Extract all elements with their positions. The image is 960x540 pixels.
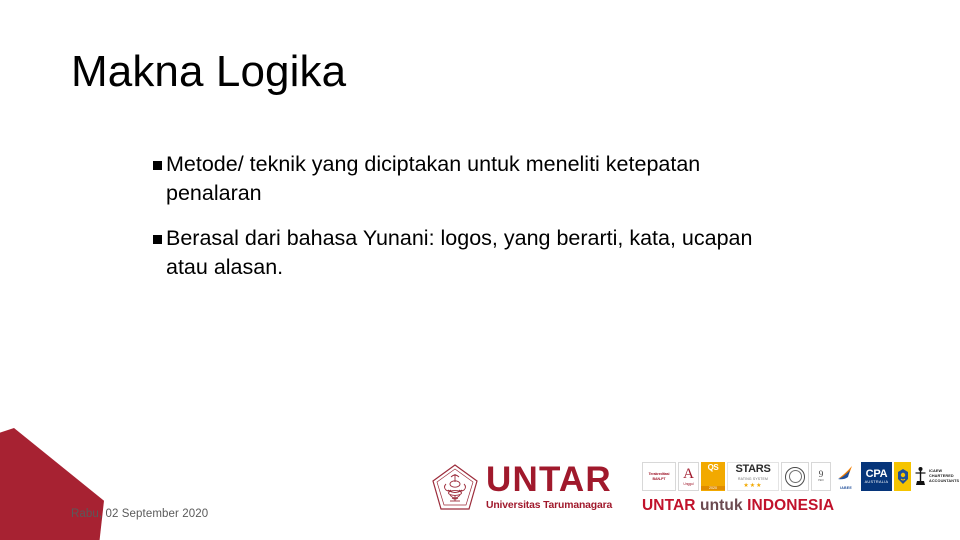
tagline-part-untar: UNTAR (642, 497, 696, 514)
square-bullet-icon (153, 161, 162, 170)
untar-word: UNTAR (486, 462, 631, 497)
badge-iabee-word: IABEE (840, 486, 852, 490)
icaew-figure-icon (914, 466, 927, 487)
badge-grade-a: A Unggul (678, 462, 699, 491)
badge-qs: QS 2020 (701, 462, 725, 491)
badge-certification: 9 ISO (811, 462, 831, 491)
tagline-part-indonesia: INDONESIA (747, 497, 834, 514)
badge-qs-mark: QS (708, 463, 719, 472)
swoosh-icon (836, 465, 856, 481)
badge-stars-sub: RATING SYSTEM (738, 477, 768, 481)
yellow-crest-icon (897, 468, 909, 485)
badge-yellow-emblem (894, 462, 911, 491)
tagline-part-untuk: untuk (700, 497, 743, 514)
bullet-list: Metode/ teknik yang diciptakan untuk men… (153, 150, 793, 282)
untar-wordmark: UNTAR Universitas Tarumanagara (486, 462, 631, 512)
untar-pentagon-emblem-icon (430, 463, 480, 515)
badge-icaew-line3: ACCOUNTANTS (929, 479, 959, 484)
badge-ban-pt: Terakreditasi BAN-PT (642, 462, 676, 491)
badge-qs-stars: STARS RATING SYSTEM ★★★ (727, 462, 779, 491)
decorative-corner-shape (0, 428, 104, 540)
badge-iabee: IABEE (833, 462, 859, 491)
footer-logo-band: UNTAR Universitas Tarumanagara Terakredi… (428, 458, 948, 526)
badge-cpa-australia: CPA AUSTRALIA (861, 462, 892, 491)
list-item-text: Berasal dari bahasa Yunani: logos, yang … (166, 226, 752, 279)
circular-seal-icon (785, 467, 805, 487)
presentation-slide: Makna Logika Metode/ teknik yang dicipta… (0, 0, 960, 540)
slide-title: Makna Logika (71, 48, 891, 96)
square-bullet-icon (153, 235, 162, 244)
badge-seal (781, 462, 809, 491)
list-item: Berasal dari bahasa Yunani: logos, yang … (153, 224, 793, 282)
accreditation-badge-strip: Terakreditasi BAN-PT A Unggul QS 2020 ST… (642, 462, 960, 491)
list-item-text: Metode/ teknik yang diciptakan untuk men… (166, 152, 700, 205)
list-item: Metode/ teknik yang diciptakan untuk men… (153, 150, 793, 208)
badge-ban-line2: BAN-PT (653, 477, 666, 482)
badge-cpa-word: CPA (866, 469, 888, 480)
badge-icaew: ICAEW CHARTERED ACCOUNTANTS (913, 462, 960, 491)
badge-grade-letter: A (683, 467, 694, 482)
badge-stars-glyphs: ★★★ (743, 483, 762, 489)
untar-tagline: UNTAR untuk INDONESIA (642, 496, 834, 515)
badge-qs-year: 2020 (701, 486, 725, 490)
untar-logo: UNTAR Universitas Tarumanagara (428, 460, 628, 516)
badge-cpa-sub: AUSTRALIA (865, 480, 889, 485)
footer-date: Rabu, 02 September 2020 (71, 507, 208, 521)
untar-subtitle: Universitas Tarumanagara (486, 499, 631, 512)
badge-icaew-text: ICAEW CHARTERED ACCOUNTANTS (929, 469, 959, 484)
badge-stars-word: STARS (736, 464, 771, 475)
badge-cert-sub: ISO (818, 479, 823, 483)
badge-grade-caption: Unggul (683, 482, 693, 486)
